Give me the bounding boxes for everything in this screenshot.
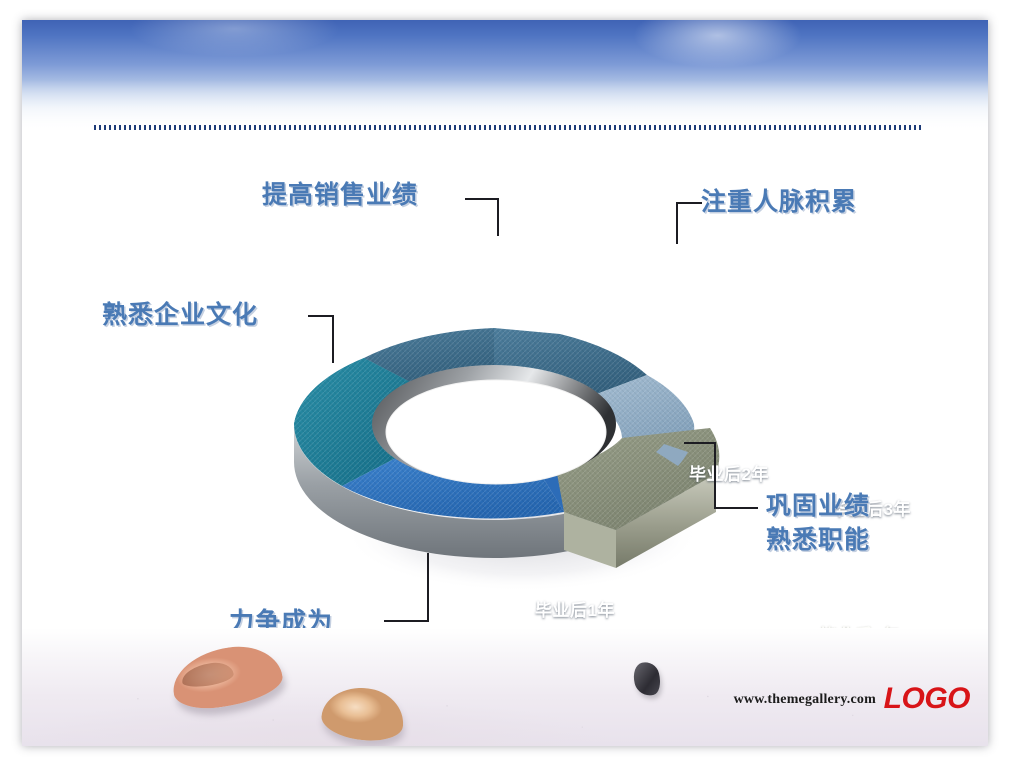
callout-sales-performance: 提高销售业绩 [262, 180, 418, 211]
leader-line-consolidate-base [714, 507, 758, 509]
callout-network-building: 注重人脉积累 [701, 187, 857, 218]
doughnut-chart-svg [264, 212, 744, 622]
footer-website-url[interactable]: www.themegallery.com [734, 692, 876, 708]
dotted-divider [94, 125, 922, 130]
leader-line-manager-vertical [427, 553, 429, 621]
leader-line-consolidate-vertical [714, 442, 716, 508]
footer-logo: LOGO [884, 682, 970, 716]
leader-line-sales-vertical [497, 198, 499, 236]
leader-line-manager-horizontal [384, 620, 429, 622]
leader-line-sales-horizontal [465, 198, 499, 200]
callout-sales-performance-text: 提高销售业绩 [262, 181, 418, 209]
callout-company-culture: 熟悉企业文化 [102, 300, 258, 331]
doughnut-hole [386, 380, 606, 484]
sand-texture [22, 628, 988, 746]
callout-company-culture-text: 熟悉企业文化 [102, 301, 258, 329]
callout-consolidate-line1: 巩固业绩 [766, 490, 870, 524]
doughnut-chart: 毕业后1年 毕业后2年 毕业后3年 毕业后4年 毕业后5年 [264, 212, 744, 622]
leader-line-culture-vertical [332, 315, 334, 363]
leader-line-consolidate-horizontal [684, 442, 716, 444]
slide-content: 毕业后1年 毕业后2年 毕业后3年 毕业后4年 毕业后5年 提高销售业绩 注重人… [22, 20, 988, 746]
leader-line-culture-horizontal [308, 315, 334, 317]
callout-network-building-text: 注重人脉积累 [701, 188, 857, 216]
leader-line-network-horizontal [676, 202, 702, 204]
callout-consolidate-line2: 熟悉职能 [766, 524, 870, 558]
slide-canvas: 毕业后1年 毕业后2年 毕业后3年 毕业后4年 毕业后5年 提高销售业绩 注重人… [0, 0, 1010, 768]
leader-line-network-vertical [676, 202, 678, 244]
sky-fade-overlay [22, 80, 988, 150]
callout-consolidate: 巩固业绩 熟悉职能 [766, 490, 870, 558]
